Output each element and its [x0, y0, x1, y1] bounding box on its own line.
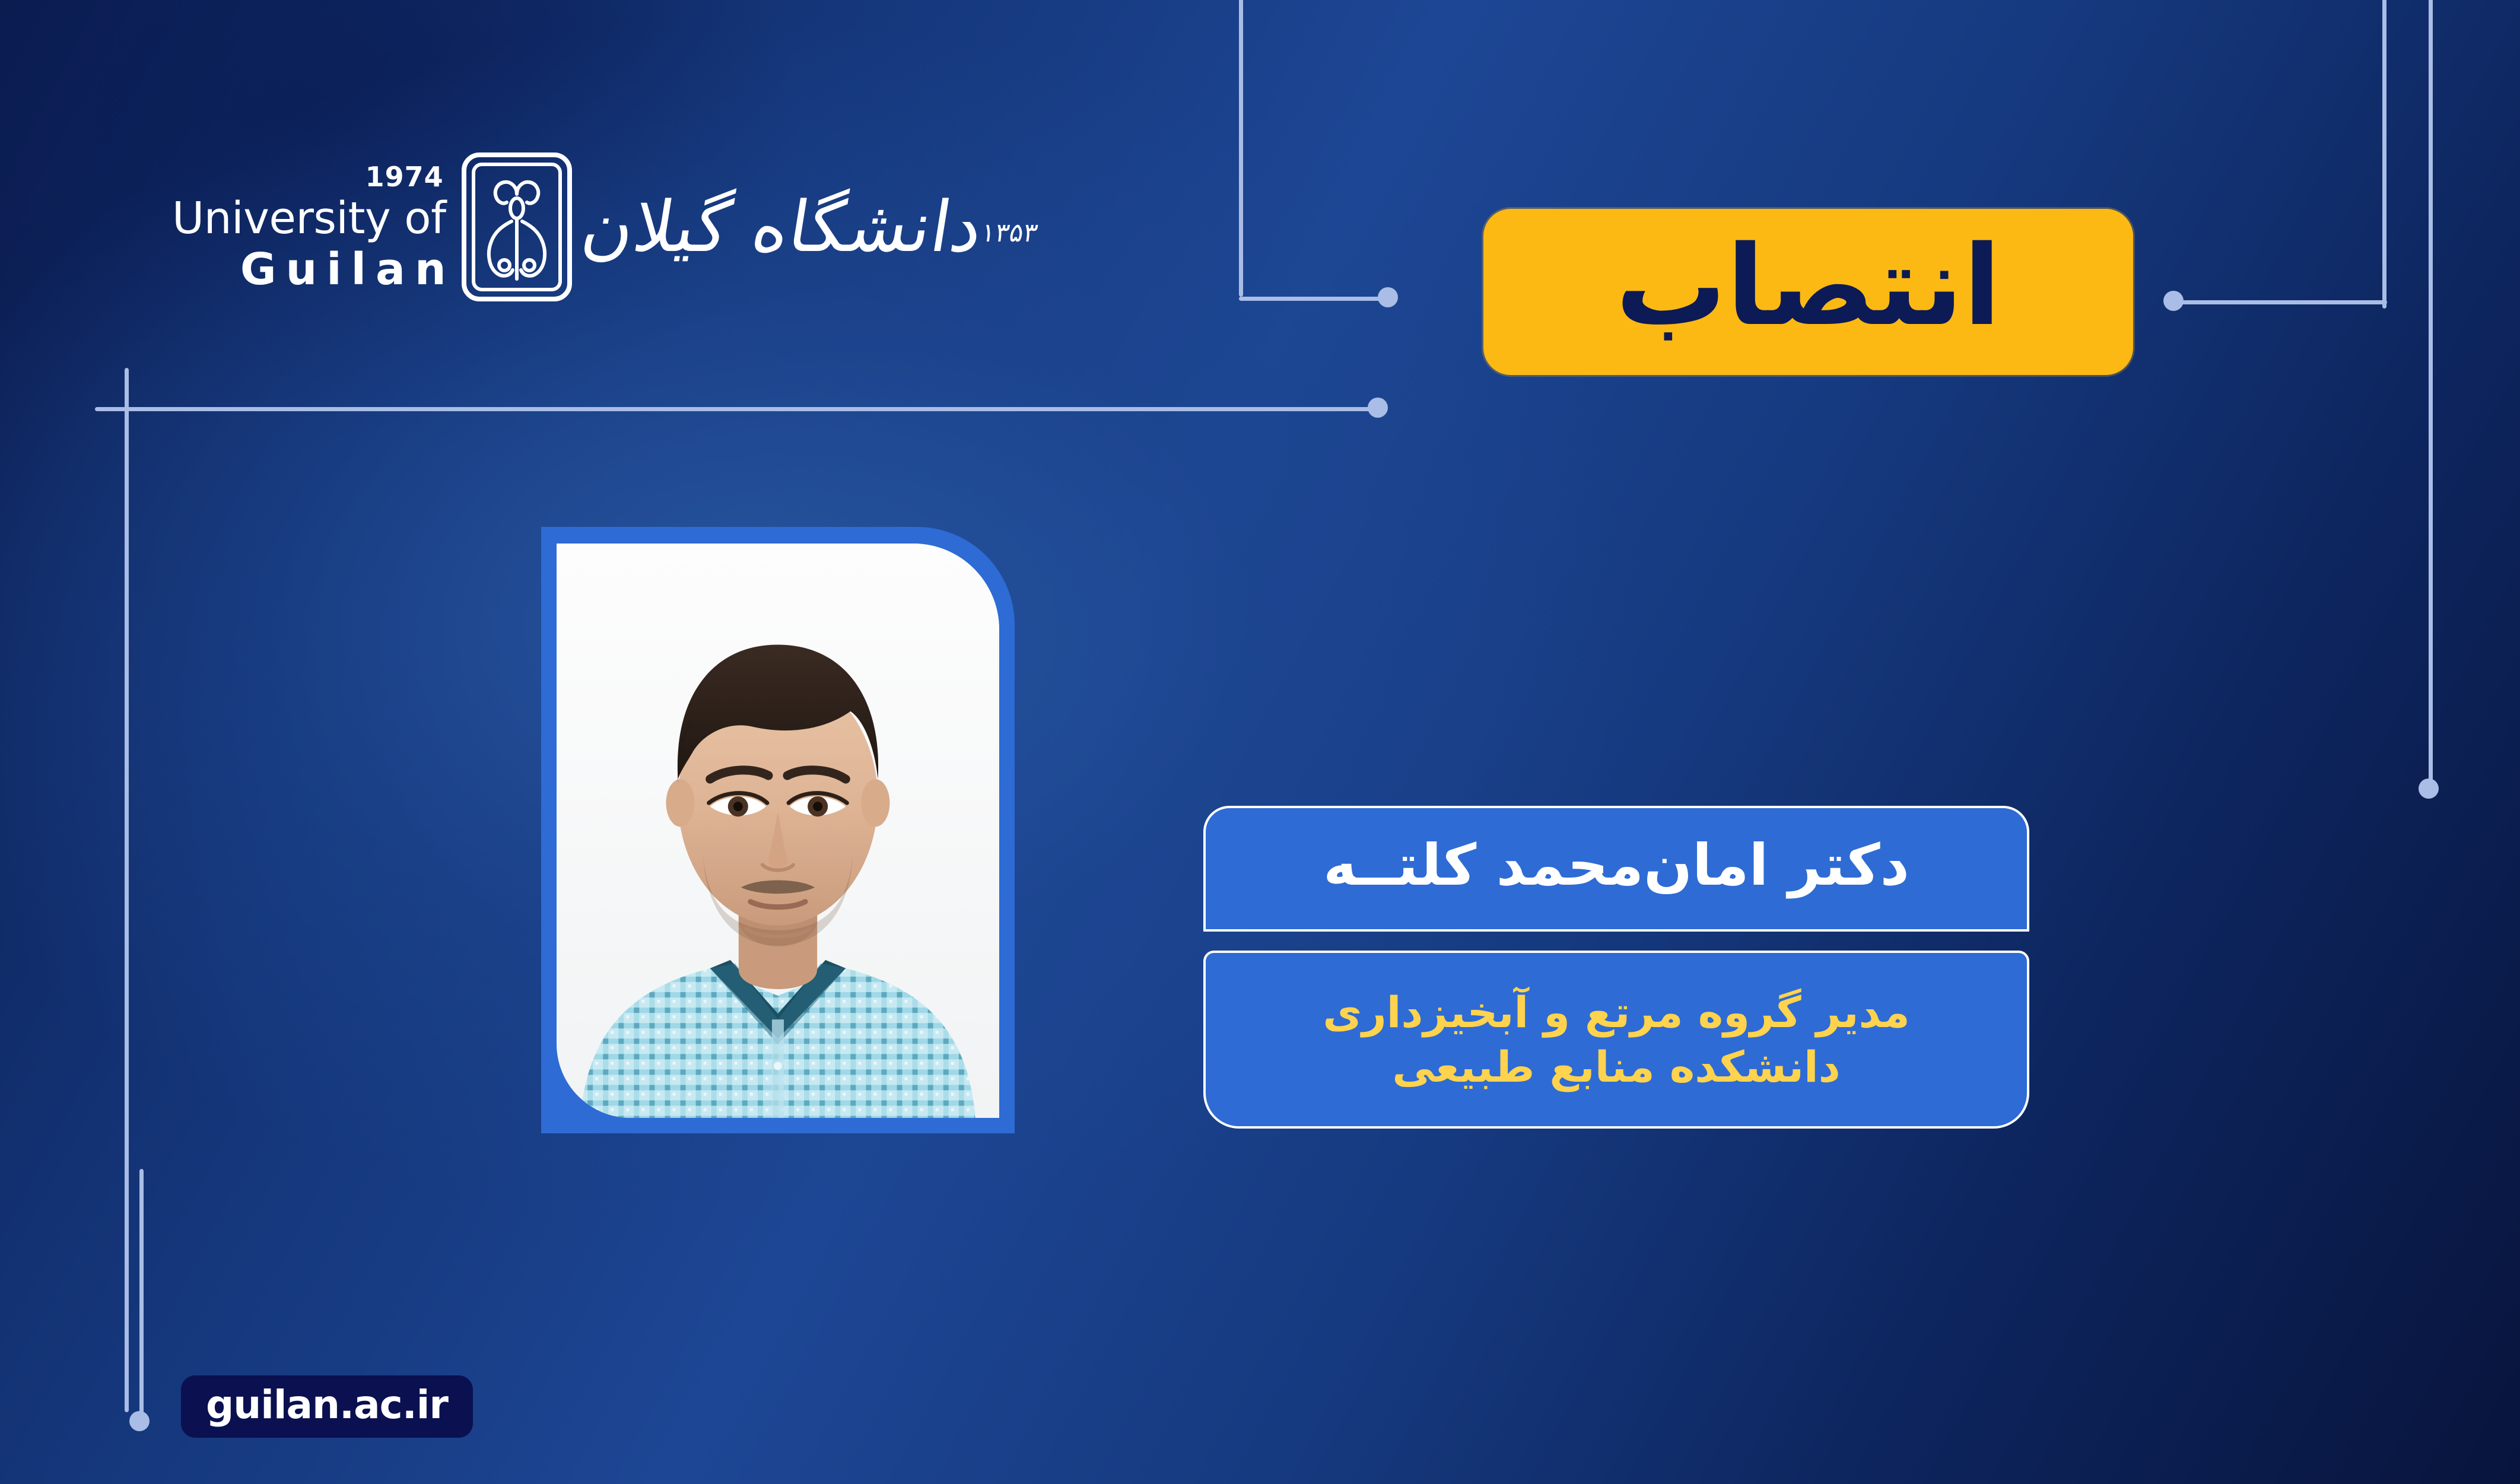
person-title-line-1: مدیر گروه مرتع و آبخیزداری — [1323, 985, 1909, 1040]
dot-far-right-end — [2419, 778, 2439, 799]
logo-english-text: 1974 University of Guilan — [172, 163, 457, 291]
dot-left-line-end — [1368, 398, 1388, 418]
upper-middle-horizontal-line — [1239, 297, 1387, 301]
logo-university-name-fa: دانشگاه گیلان — [577, 190, 987, 264]
upper-middle-vertical-line — [1239, 0, 1243, 297]
person-name-badge: دکتر امان‌محمد کلتــه — [1203, 806, 2029, 932]
dot-upper-right — [2163, 291, 2184, 311]
dot-bottom-left — [129, 1411, 150, 1431]
poster-canvas: 1974 University of Guilan دانشگاه گیلان … — [0, 0, 2520, 1484]
upper-right-horizontal-line — [2175, 300, 2387, 304]
bottom-left-vertical-line — [139, 1169, 144, 1418]
website-url: guilan.ac.ir — [206, 1386, 448, 1425]
logo-persian-text: دانشگاه گیلان ۱۳۵۳ — [577, 190, 1047, 264]
top-left-horizontal-line — [95, 407, 1378, 411]
website-url-pill[interactable]: guilan.ac.ir — [181, 1375, 473, 1438]
logo-founding-year-fa: ۱۳۵۳ — [979, 218, 1040, 248]
headline-label: انتصاب — [1616, 231, 2001, 341]
dot-upper-middle — [1378, 287, 1398, 307]
portrait-frame — [541, 527, 1015, 1133]
portrait-photo — [557, 544, 999, 1118]
logo-university-word: University of — [172, 196, 446, 240]
top-left-vertical-line — [125, 368, 129, 1412]
person-title-line-2: دانشکده منابع طبیعی — [1392, 1040, 1840, 1094]
far-right-vertical-line — [2429, 0, 2433, 787]
person-title-badge: مدیر گروه مرتع و آبخیزداری دانشکده منابع… — [1203, 951, 2029, 1129]
logo-guilan-word: Guilan — [240, 247, 456, 291]
logo-founding-year-en: 1974 — [366, 163, 444, 190]
guilan-university-emblem-icon — [460, 151, 573, 303]
portrait-image — [557, 544, 999, 1118]
person-name: دکتر امان‌محمد کلتــه — [1323, 837, 1909, 894]
upper-right-vertical-line — [2382, 0, 2386, 309]
headline-badge: انتصاب — [1483, 209, 2133, 375]
university-logo-lockup: 1974 University of Guilan دانشگاه گیلان … — [172, 151, 1047, 303]
